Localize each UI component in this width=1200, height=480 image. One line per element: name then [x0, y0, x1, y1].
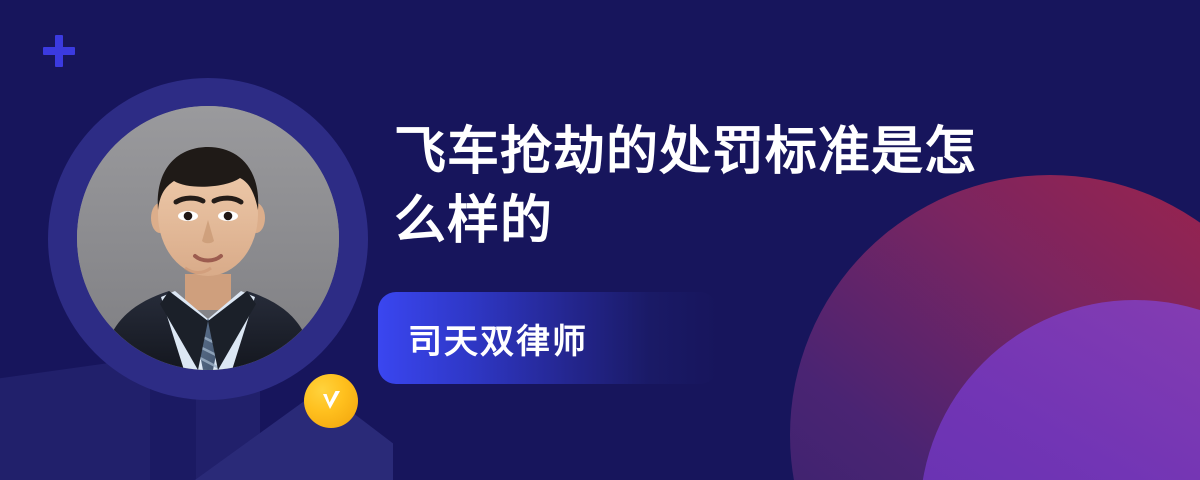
headline-block: 飞车抢劫的处罚标准是怎 么样的 — [394, 118, 1094, 255]
page-title: 飞车抢劫的处罚标准是怎 么样的 — [394, 118, 1094, 255]
avatar-photo — [77, 106, 339, 370]
verified-badge-icon — [304, 374, 358, 428]
avatar — [48, 78, 368, 400]
plus-icon — [42, 34, 76, 68]
lawyer-name-label: 司天双律师 — [378, 314, 588, 363]
lawyer-name-badge[interactable]: 司天双律师 — [378, 292, 718, 384]
lawyer-question-banner: 飞车抢劫的处罚标准是怎 么样的 司天双律师 — [0, 0, 1200, 480]
